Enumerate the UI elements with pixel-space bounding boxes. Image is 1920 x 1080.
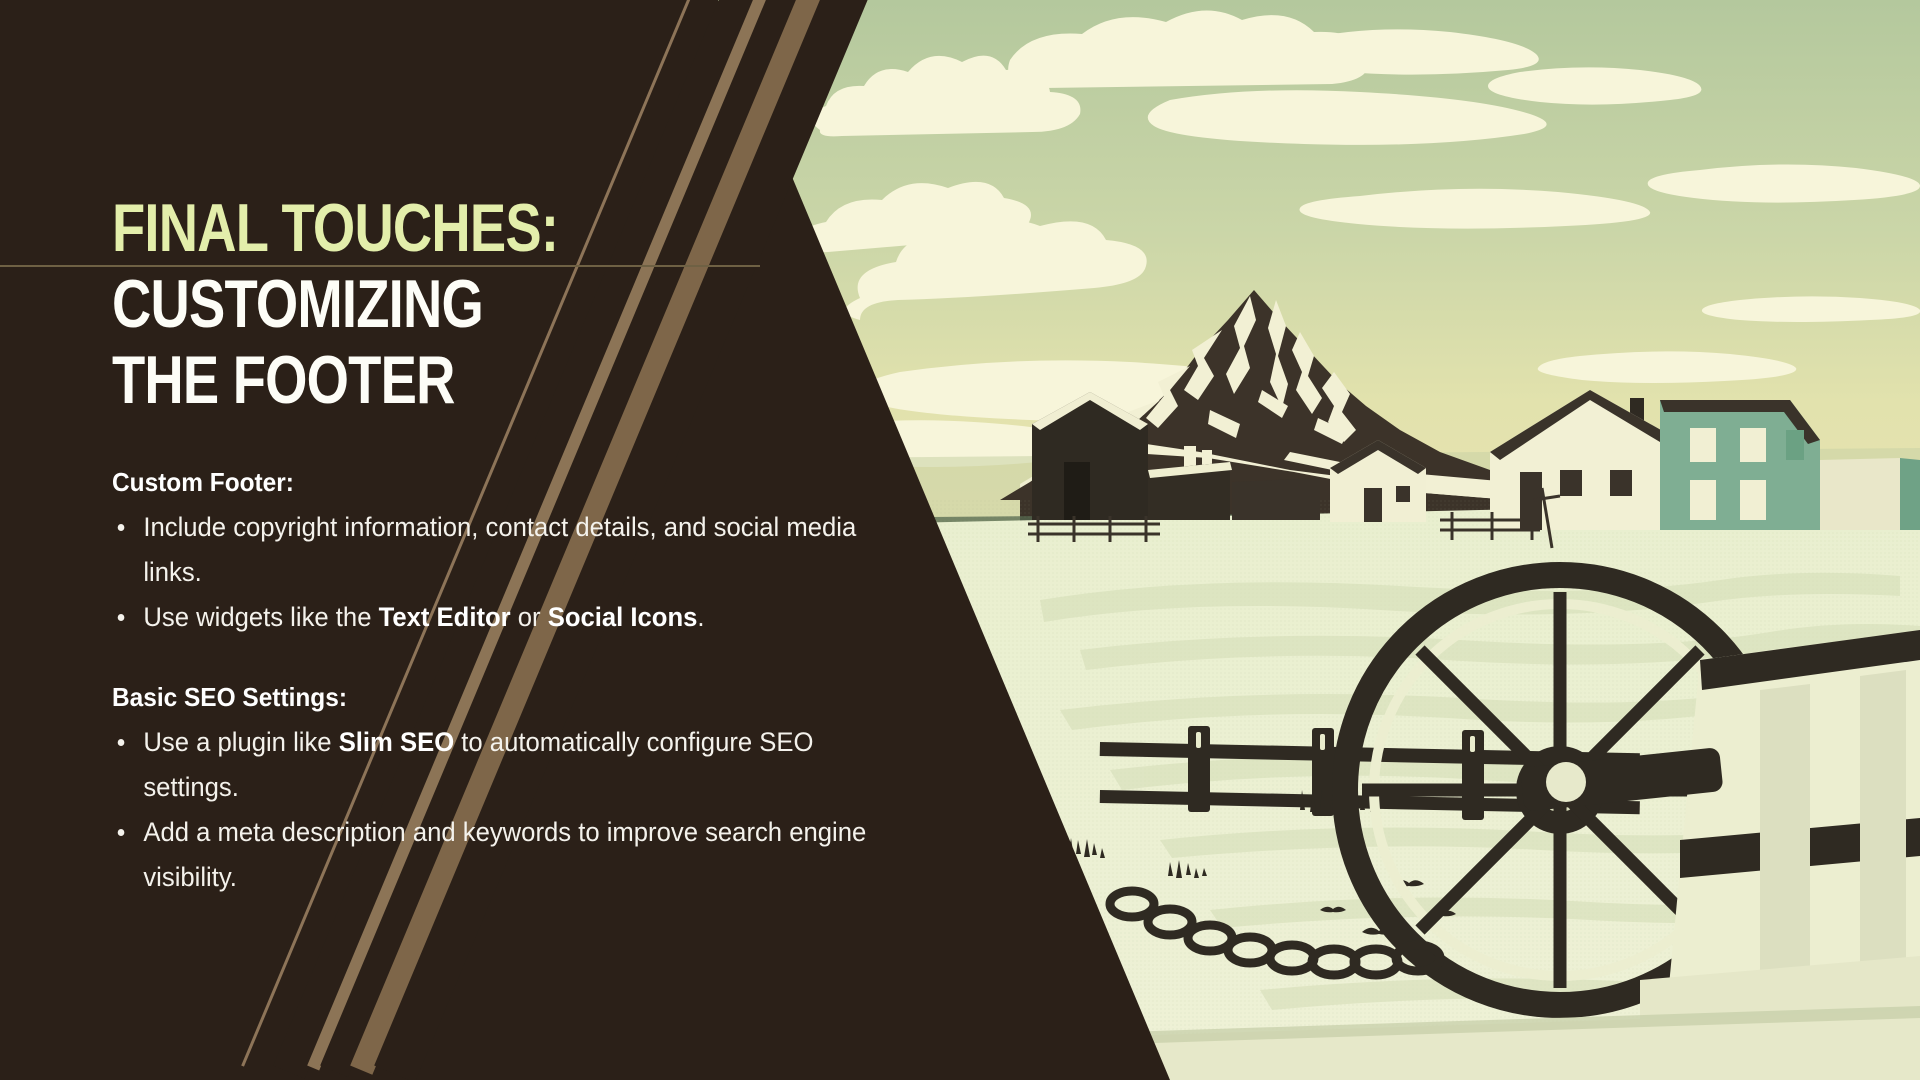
bullet-dot-icon bbox=[118, 614, 125, 621]
list-item: Include copyright information, contact d… bbox=[112, 505, 872, 595]
slide-content: FINAL TOUCHES: CUSTOMIZING THE FOOTER Cu… bbox=[0, 0, 800, 1080]
plain-text: Include copyright information, contact d… bbox=[143, 512, 856, 587]
bullet-dot-icon bbox=[118, 829, 125, 836]
bullet-dot-icon bbox=[118, 524, 125, 531]
bullet-text: Include copyright information, contact d… bbox=[143, 512, 856, 587]
section-gap bbox=[112, 640, 912, 680]
bullet-text: Add a meta description and keywords to i… bbox=[143, 817, 866, 892]
section-heading-custom-footer: Custom Footer: bbox=[112, 465, 864, 499]
emphasis-text: Text Editor bbox=[379, 602, 511, 632]
list-item: Use a plugin like Slim SEO to automatica… bbox=[112, 720, 872, 810]
emphasis-text: Slim SEO bbox=[339, 727, 454, 757]
title-line-1: FINAL TOUCHES: bbox=[112, 190, 640, 266]
list-item: Use widgets like the Text Editor or Soci… bbox=[112, 595, 872, 640]
plain-text: Use a plugin like bbox=[143, 727, 338, 757]
bullet-list-basic-seo: Use a plugin like Slim SEO to automatica… bbox=[112, 720, 912, 900]
plain-text: Use widgets like the bbox=[143, 602, 378, 632]
title-line-2: CUSTOMIZING bbox=[112, 266, 640, 342]
plain-text: or bbox=[511, 602, 548, 632]
slide-title: FINAL TOUCHES: CUSTOMIZING THE FOOTER bbox=[112, 190, 772, 418]
plain-text: Add a meta description and keywords to i… bbox=[143, 817, 866, 892]
title-line-3: THE FOOTER bbox=[112, 342, 640, 418]
list-item: Add a meta description and keywords to i… bbox=[112, 810, 872, 900]
plain-text: . bbox=[697, 602, 704, 632]
bullet-dot-icon bbox=[118, 739, 125, 746]
slide-canvas: FINAL TOUCHES: CUSTOMIZING THE FOOTER Cu… bbox=[0, 0, 1920, 1080]
slide-body: Custom Footer: Include copyright informa… bbox=[112, 465, 912, 900]
section-heading-basic-seo: Basic SEO Settings: bbox=[112, 680, 864, 714]
emphasis-text: Social Icons bbox=[548, 602, 698, 632]
bullet-text: Use widgets like the Text Editor or Soci… bbox=[143, 602, 704, 632]
bullet-text: Use a plugin like Slim SEO to automatica… bbox=[143, 727, 813, 802]
bullet-list-custom-footer: Include copyright information, contact d… bbox=[112, 505, 912, 640]
